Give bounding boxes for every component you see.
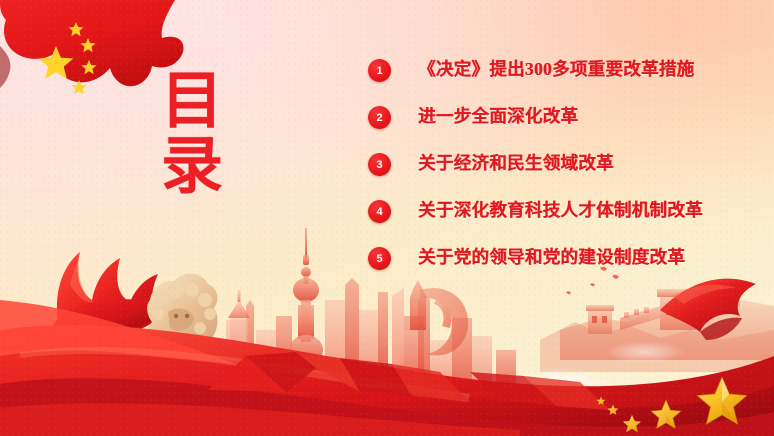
toc-item-label[interactable]: 关于深化教育科技人才体制机制改革	[418, 197, 703, 222]
guardian-lion-statue-icon	[146, 274, 218, 388]
mist	[270, 368, 390, 396]
toc-item-5[interactable]: 5 关于党的领导和党的建设制度改革	[368, 245, 764, 292]
slide-canvas: 目 录 1 《决定》提出300多项重要改革措施 2 进一步全面深化改革 3 关于…	[0, 0, 774, 436]
party-emblem-icon	[420, 288, 468, 355]
mist	[359, 380, 449, 404]
toc-item-4[interactable]: 4 关于深化教育科技人才体制机制改革	[368, 198, 764, 245]
great-wall-icon	[540, 289, 774, 372]
toc-item-label[interactable]: 关于党的领导和党的建设制度改革	[418, 244, 685, 269]
page-title: 目 录	[118, 72, 268, 198]
red-silk-ribbon	[0, 300, 774, 436]
five-gold-stars-icon	[597, 377, 747, 432]
mist	[130, 352, 240, 384]
page-title-char-2: 录	[118, 137, 268, 198]
pagoda-tower-icon	[228, 290, 250, 388]
toc-item-label[interactable]: 《决定》提出300多项重要改革措施	[418, 56, 694, 81]
toc-item-2[interactable]: 2 进一步全面深化改革	[368, 104, 764, 151]
toc-number-badge: 1	[368, 59, 391, 82]
table-of-contents-list: 1 《决定》提出300多项重要改革措施 2 进一步全面深化改革 3 关于经济和民…	[368, 57, 764, 292]
red-ribbon-flame-icon	[52, 252, 168, 336]
toc-number-badge: 2	[368, 106, 391, 129]
toc-number-badge: 5	[368, 247, 391, 270]
page-title-char-1: 目	[161, 68, 225, 136]
toc-item-1[interactable]: 1 《决定》提出300多项重要改革措施	[368, 57, 764, 104]
mist	[605, 341, 685, 363]
oriental-pearl-tower-icon	[289, 228, 323, 384]
toc-item-label[interactable]: 关于经济和民生领域改革	[418, 150, 614, 175]
toc-number-badge: 4	[368, 200, 391, 223]
toc-number-badge: 3	[368, 153, 391, 176]
mist	[505, 368, 615, 396]
toc-item-label[interactable]: 进一步全面深化改革	[418, 103, 578, 128]
red-polygon-mountains	[208, 352, 610, 410]
toc-item-3[interactable]: 3 关于经济和民生领域改革	[368, 151, 764, 198]
right-city-skyline	[400, 280, 516, 400]
